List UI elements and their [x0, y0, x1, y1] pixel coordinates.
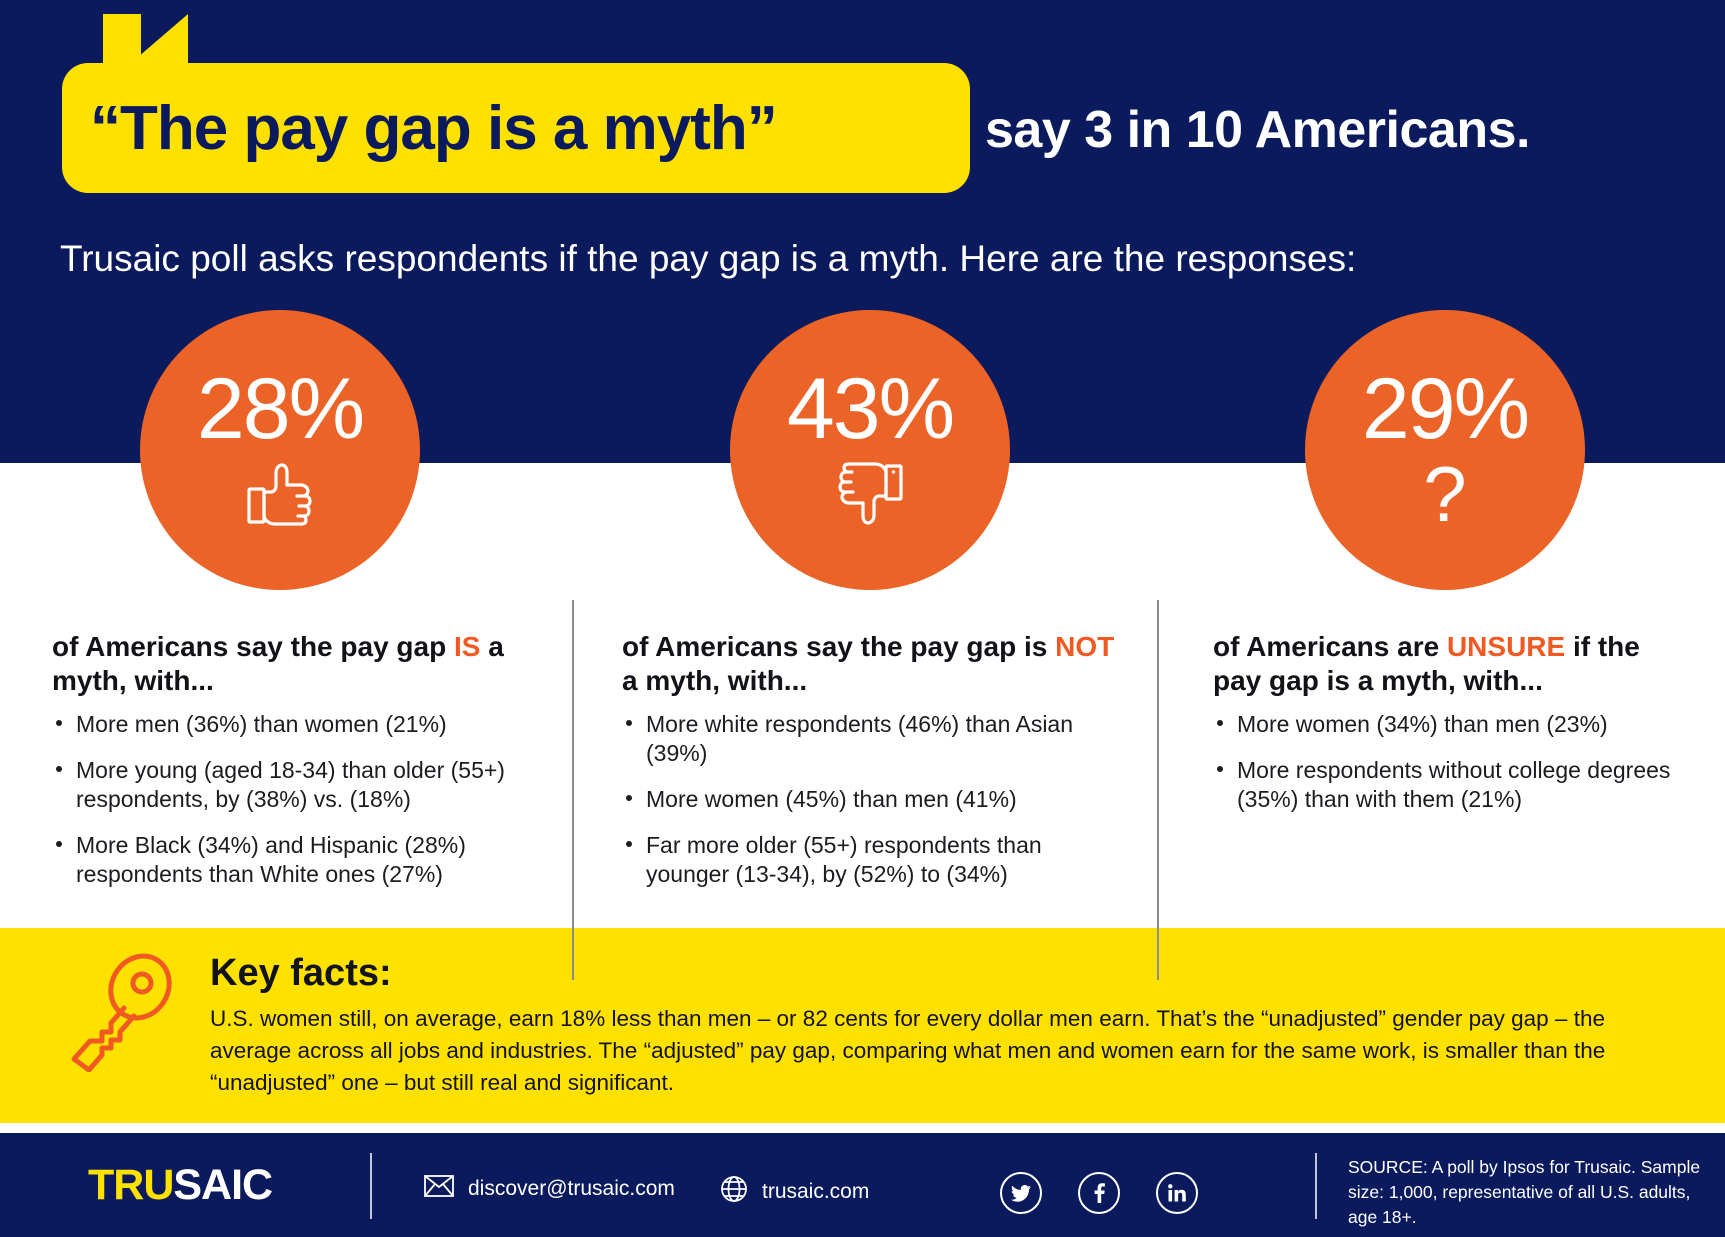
stat-heading-2-highlight: NOT	[1055, 631, 1114, 662]
key-facts-body: U.S. women still, on average, earn 18% l…	[210, 1003, 1680, 1099]
twitter-icon[interactable]	[1000, 1172, 1042, 1214]
stat-circle-2: 43%	[730, 310, 1010, 590]
stat-heading-2-post: a myth, with...	[622, 665, 807, 696]
stat-heading-3-highlight: UNSURE	[1447, 631, 1565, 662]
stat-heading-1-pre: of Americans say the pay gap	[52, 631, 446, 662]
list-item: More young (aged 18-34) than older (55+)…	[52, 756, 552, 814]
logo-saic: SAIC	[173, 1161, 272, 1209]
column-divider-2	[1157, 600, 1159, 980]
speech-bubble: “The pay gap is a myth”	[62, 63, 970, 193]
facebook-icon[interactable]	[1078, 1172, 1120, 1214]
footer-website[interactable]: trusaic.com	[720, 1175, 869, 1209]
stat-percent-2: 43%	[787, 366, 953, 452]
footer-email-text: discover@trusaic.com	[468, 1177, 675, 1201]
stat-circle-3: 29% ?	[1305, 310, 1585, 590]
list-item: More women (34%) than men (23%)	[1213, 710, 1683, 739]
white-separator	[0, 1123, 1725, 1133]
headline-quote: “The pay gap is a myth”	[62, 93, 777, 164]
list-item: More Black (34%) and Hispanic (28%) resp…	[52, 831, 552, 889]
envelope-icon	[424, 1175, 454, 1203]
list-item: More men (36%) than women (21%)	[52, 710, 552, 739]
globe-icon	[720, 1175, 748, 1209]
stat-heading-1-highlight: IS	[454, 631, 480, 662]
footer-divider-2	[1315, 1153, 1317, 1219]
question-mark-glyph: ?	[1423, 459, 1466, 529]
stat-percent-3: 29%	[1362, 366, 1528, 452]
list-item: Far more older (55+) respondents than yo…	[622, 831, 1117, 889]
stat-heading-3-pre: of Americans are	[1213, 631, 1447, 662]
stat-bullets-3: More women (34%) than men (23%) More res…	[1213, 710, 1683, 814]
stat-heading-2-pre: of Americans say the pay gap is	[622, 631, 1047, 662]
footer-email[interactable]: discover@trusaic.com	[424, 1175, 675, 1203]
stat-column-3: of Americans are UNSURE if the pay gap i…	[1213, 630, 1683, 831]
list-item: More respondents without college degrees…	[1213, 756, 1683, 814]
column-divider-1	[572, 600, 574, 980]
linkedin-icon[interactable]	[1156, 1172, 1198, 1214]
stat-heading-2: of Americans say the pay gap is NOT a my…	[622, 630, 1117, 698]
trusaic-logo[interactable]: TRUSAIC	[88, 1161, 272, 1210]
social-links	[1000, 1172, 1198, 1214]
stat-circle-1: 28%	[140, 310, 420, 590]
thumbs-down-icon	[835, 458, 905, 530]
infographic-root: “The pay gap is a myth” say 3 in 10 Amer…	[0, 0, 1725, 1237]
stat-bullets-1: More men (36%) than women (21%) More you…	[52, 710, 552, 889]
key-icon	[62, 952, 182, 1072]
question-mark-icon: ?	[1423, 458, 1466, 530]
list-item: More white respondents (46%) than Asian …	[622, 710, 1117, 768]
footer-website-text: trusaic.com	[762, 1180, 869, 1204]
stat-heading-1: of Americans say the pay gap IS a myth, …	[52, 630, 552, 698]
thumbs-up-icon	[245, 458, 315, 530]
stat-percent-1: 28%	[197, 366, 363, 452]
subheadline: Trusaic poll asks respondents if the pay…	[60, 238, 1356, 280]
stat-column-2: of Americans say the pay gap is NOT a my…	[622, 630, 1117, 906]
key-facts-title: Key facts:	[210, 952, 392, 995]
source-note: SOURCE: A poll by Ipsos for Trusaic. Sam…	[1348, 1155, 1718, 1230]
stat-bullets-2: More white respondents (46%) than Asian …	[622, 710, 1117, 889]
headline-rest: say 3 in 10 Americans.	[985, 100, 1530, 160]
list-item: More women (45%) than men (41%)	[622, 785, 1117, 814]
stat-heading-3: of Americans are UNSURE if the pay gap i…	[1213, 630, 1683, 698]
footer-divider-1	[370, 1153, 372, 1219]
logo-tru: TRU	[88, 1161, 173, 1209]
stat-column-1: of Americans say the pay gap IS a myth, …	[52, 630, 552, 906]
